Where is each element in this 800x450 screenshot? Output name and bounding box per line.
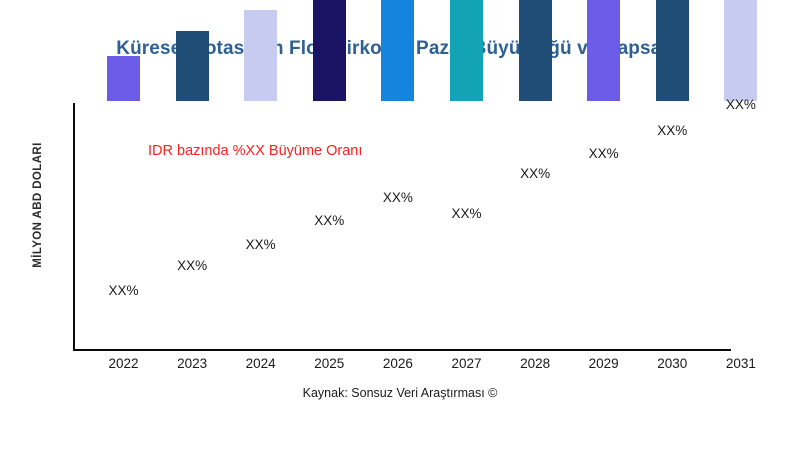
bar-2031[interactable] (724, 0, 757, 101)
x-axis-line (73, 349, 731, 351)
growth-rate-annotation: IDR bazında %XX Büyüme Oranı (148, 143, 362, 159)
bar-value-label-2025: XX% (289, 213, 369, 228)
bar-value-label-2023: XX% (152, 258, 232, 273)
bar-2024[interactable] (244, 10, 277, 101)
bar-2023[interactable] (176, 31, 209, 101)
bar-2026[interactable] (381, 0, 414, 101)
bar-2030[interactable] (656, 0, 689, 101)
bar-value-label-2029: XX% (564, 146, 644, 161)
y-axis-line (73, 103, 75, 351)
bar-value-label-2030: XX% (632, 123, 712, 138)
bar-value-label-2027: XX% (427, 206, 507, 221)
bar-2028[interactable] (519, 0, 552, 101)
bar-value-label-2031: XX% (701, 97, 781, 112)
bar-value-label-2026: XX% (358, 190, 438, 205)
y-axis-title: MİLYON ABD DOLARI (32, 55, 44, 355)
chart-container: Küresel Potasyum Florozirkonat Pazar Büy… (0, 0, 800, 450)
bar-value-label-2024: XX% (221, 237, 301, 252)
bar-2022[interactable] (107, 56, 140, 101)
bar-2027[interactable] (450, 0, 483, 101)
bar-2029[interactable] (587, 0, 620, 101)
bar-2025[interactable] (313, 0, 346, 101)
bar-value-label-2022: XX% (84, 283, 164, 298)
source-note: Kaynak: Sonsuz Veri Araştırması © (0, 386, 800, 400)
bar-value-label-2028: XX% (495, 166, 575, 181)
x-tick-2031: 2031 (701, 356, 781, 371)
